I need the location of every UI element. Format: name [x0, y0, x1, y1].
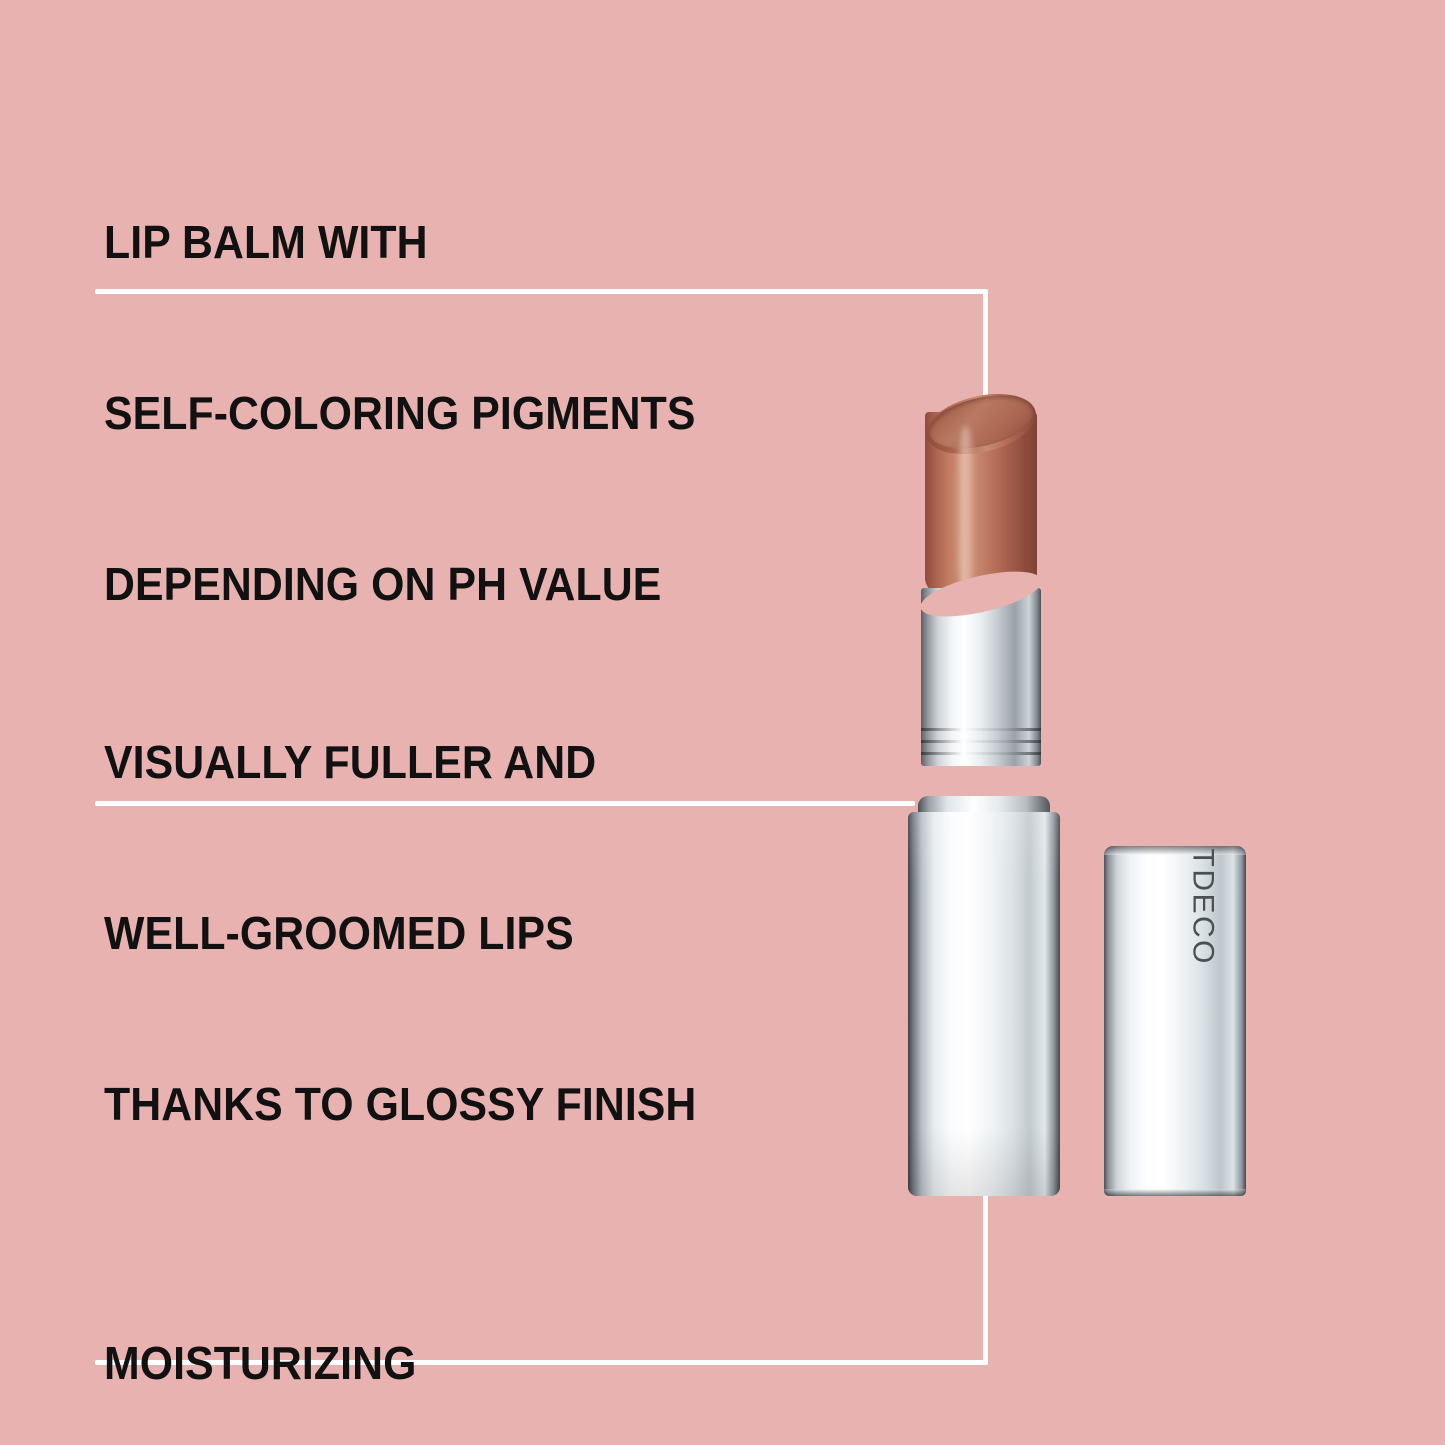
- cap-bottom-rim: [1104, 1189, 1246, 1196]
- collar-ring-middle: [921, 740, 1041, 743]
- lipstick-chrome-collar: [921, 588, 1041, 766]
- callout-fuller-lips: VISUALLY FULLER AND WELL-GROOMED LIPS TH…: [104, 620, 696, 1247]
- brand-logo-artdeco: ARTDECO: [1186, 846, 1220, 966]
- barrel-shading: [908, 812, 1060, 1196]
- connector-line-1-vertical: [983, 289, 988, 411]
- collar-ring-upper: [921, 728, 1041, 731]
- cap-top-rim: [1104, 846, 1246, 855]
- collar-ring-lower: [921, 752, 1041, 755]
- lipstick-cap: ARTDECO: [1104, 846, 1246, 1196]
- lipstick-barrel: [908, 812, 1060, 1196]
- callout-2-line-1: VISUALLY FULLER AND: [104, 734, 696, 791]
- callout-1-line-3: DEPENDING ON PH VALUE: [104, 556, 695, 613]
- lipstick-bullet-gloss-highlight: [955, 426, 977, 594]
- product-infographic: LIP BALM WITH SELF-COLORING PIGMENTS DEP…: [0, 0, 1445, 1445]
- callout-1-line-1: LIP BALM WITH: [104, 214, 695, 271]
- callout-2-line-2: WELL-GROOMED LIPS: [104, 905, 696, 962]
- callout-3-line-1: MOISTURIZING: [104, 1335, 450, 1392]
- callout-2-line-3: THANKS TO GLOSSY FINISH: [104, 1076, 696, 1133]
- connector-line-3-vertical: [983, 1193, 988, 1365]
- callout-1-line-2: SELF-COLORING PIGMENTS: [104, 385, 695, 442]
- callout-moisturizing: MOISTURIZING CARE COMPLEX: [104, 1221, 450, 1445]
